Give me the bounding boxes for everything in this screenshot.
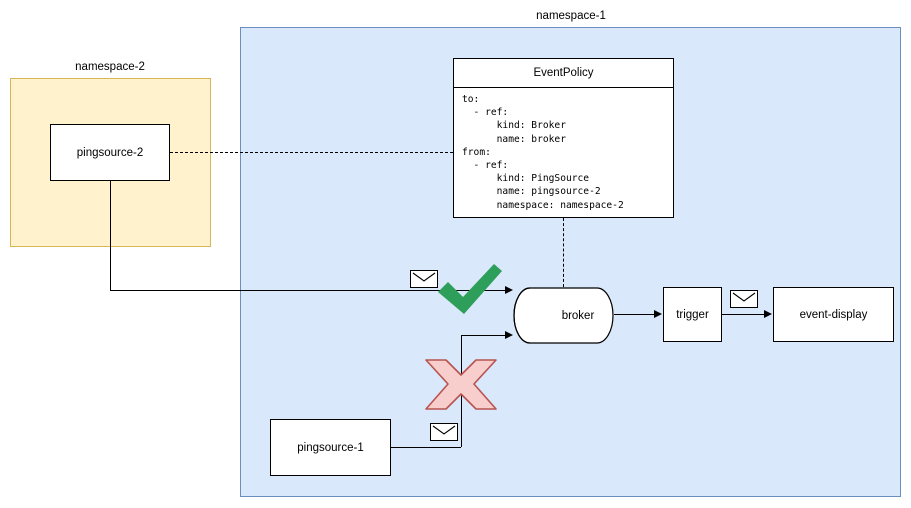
edge-pingsource1-to-broker — [461, 335, 510, 336]
eventpolicy-title: EventPolicy — [454, 59, 673, 88]
node-pingsource-1[interactable]: pingsource-1 — [270, 419, 391, 476]
edge-eventpolicy-broker-dashed — [563, 218, 564, 287]
node-broker-label: broker — [547, 287, 609, 344]
edge-pingsource1-arrowhead — [505, 331, 513, 339]
envelope-icon — [730, 290, 758, 308]
eventpolicy-spec-line-4: from: — [462, 147, 491, 158]
eventpolicy-spec-line-6: kind: PingSource — [462, 173, 589, 184]
node-trigger[interactable]: trigger — [663, 287, 722, 342]
eventpolicy-spec-line-1: - ref: — [462, 107, 508, 118]
eventpolicy-spec-line-2: kind: Broker — [462, 120, 566, 131]
eventpolicy-spec-line-5: - ref: — [462, 160, 508, 171]
eventpolicy-spec-line-3: name: broker — [462, 134, 566, 145]
edge-pingsource2-arrowhead — [505, 286, 513, 294]
node-event-display-label: event-display — [800, 309, 868, 321]
envelope-icon — [410, 270, 438, 288]
namespace-2-label: namespace-2 — [20, 61, 200, 73]
eventpolicy-spec-line-7: name: pingsource-2 — [462, 186, 601, 197]
namespace-1-label: namespace-1 — [481, 10, 661, 22]
cross-mark-icon — [424, 358, 498, 411]
node-event-display[interactable]: event-display — [773, 287, 894, 342]
eventpolicy-spec-line-0: to: — [462, 94, 479, 105]
edge-broker-trigger — [614, 314, 655, 315]
edge-broker-trigger-arrowhead — [654, 310, 662, 318]
eventpolicy-spec: to: - ref: kind: Broker name: broker fro… — [454, 88, 673, 212]
diagram-canvas: namespace-1 namespace-2 pingsource-2 pin… — [0, 0, 911, 508]
node-trigger-label: trigger — [676, 309, 709, 321]
envelope-icon — [430, 423, 458, 441]
edge-trigger-eventdisplay — [722, 314, 765, 315]
node-pingsource-1-label: pingsource-1 — [297, 442, 363, 454]
edge-pingsource1-horizontal — [391, 447, 461, 448]
eventpolicy-spec-line-8: namespace: namespace-2 — [462, 200, 624, 211]
edge-pingsource2-vertical — [110, 181, 111, 291]
eventpolicy-card[interactable]: EventPolicy to: - ref: kind: Broker name… — [453, 58, 674, 218]
edge-pingsource2-eventpolicy-dashed — [170, 152, 453, 153]
check-mark-icon — [436, 262, 504, 322]
edge-trigger-eventdisplay-arrowhead — [764, 310, 772, 318]
node-pingsource-2-label: pingsource-2 — [77, 147, 143, 159]
node-pingsource-2[interactable]: pingsource-2 — [50, 124, 170, 181]
node-broker[interactable]: broker — [513, 287, 614, 344]
